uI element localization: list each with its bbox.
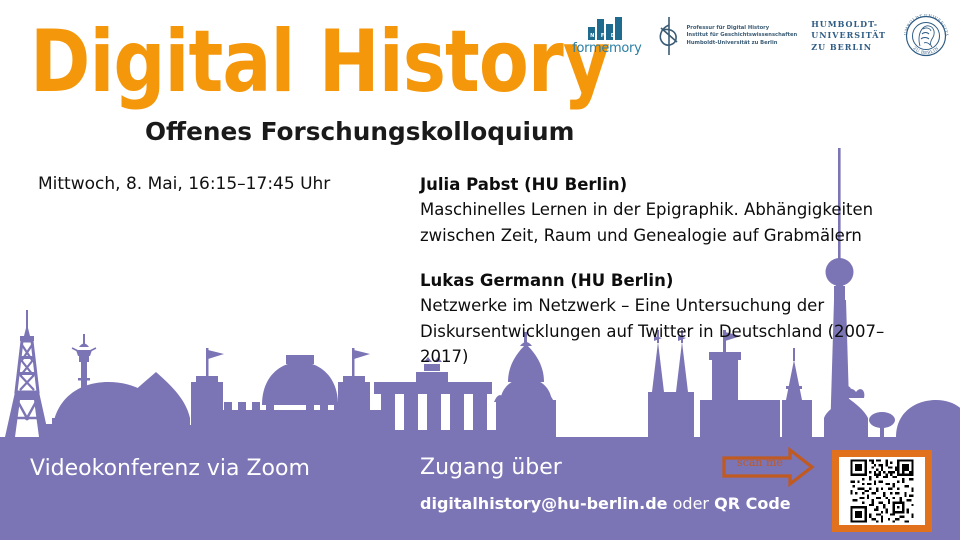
formemory-logo: N F D I formemory	[572, 10, 641, 62]
nfdi-letter-d: D	[611, 33, 615, 39]
page-title: Digital History	[30, 14, 609, 110]
talk-title-line: Maschinelles Lernen in der Epigraphik. A…	[420, 197, 920, 223]
talk-item: Lukas Germann (HU Berlin) Netzwerke im N…	[420, 268, 920, 370]
humboldt-line-1: HUMBOLDT-	[811, 19, 878, 31]
nfdi-bars-icon: N F D I	[587, 16, 627, 40]
professur-line-3: Humboldt-Universität zu Berlin	[687, 40, 798, 48]
nfdi-letter-f: F	[601, 33, 604, 39]
page-subtitle: Offenes Forschungskolloquium	[145, 117, 574, 147]
nfdi-letter-i: I	[622, 33, 624, 39]
qr-code-image[interactable]	[839, 457, 925, 525]
videoconference-label: Videokonferenz via Zoom	[30, 454, 310, 484]
professur-digital-history-logo: Professur für Digital History Institut f…	[656, 10, 798, 62]
qr-code-label: QR Code	[714, 494, 791, 513]
professur-text-block: Professur für Digital History Institut f…	[687, 25, 798, 48]
talk-title-line: Netzwerke im Netzwerk – Eine Untersuchun…	[420, 293, 920, 319]
qr-code-frame[interactable]	[832, 450, 932, 532]
contact-separator: oder	[673, 494, 709, 513]
professur-emblem-icon	[656, 16, 682, 56]
scan-me-label: scan me	[730, 456, 790, 470]
talk-title-line: 2017)	[420, 344, 920, 370]
talk-speaker: Lukas Germann (HU Berlin)	[420, 268, 920, 293]
event-datetime: Mittwoch, 8. Mai, 16:15–17:45 Uhr	[38, 172, 330, 196]
title-block: Digital History Offenes Forschungskolloq…	[30, 14, 630, 144]
humboldt-wordmark: HUMBOLDT- UNIVERSITÄT ZU BERLIN	[811, 10, 886, 62]
talk-item: Julia Pabst (HU Berlin) Maschinelles Ler…	[420, 172, 920, 248]
humboldt-seal-icon: HUMBOLDT-UNIVERSITÄT ZU BERLIN	[900, 10, 952, 62]
humboldt-line-3: ZU BERLIN	[811, 42, 872, 54]
logo-bar: N F D I formemory Professur für Digital …	[572, 8, 952, 64]
talk-speaker: Julia Pabst (HU Berlin)	[420, 172, 920, 197]
professur-line-1: Professur für Digital History	[687, 25, 798, 33]
footer-bar: Videokonferenz via Zoom Zugang über digi…	[0, 437, 960, 540]
poster-canvas: Digital History Offenes Forschungskolloq…	[0, 0, 960, 540]
humboldt-line-2: UNIVERSITÄT	[811, 30, 886, 42]
contact-line: digitalhistory@hu-berlin.de oder QR Code	[420, 492, 791, 516]
talks-list: Julia Pabst (HU Berlin) Maschinelles Ler…	[420, 172, 920, 370]
scan-me-arrow: scan me	[720, 447, 816, 487]
nfdi-letter-n: N	[590, 33, 594, 39]
professur-line-2: Institut für Geschichtswissenschaften	[687, 32, 798, 40]
contact-email[interactable]: digitalhistory@hu-berlin.de	[420, 494, 668, 513]
formemory-wordmark: formemory	[572, 41, 641, 56]
access-label: Zugang über	[420, 453, 562, 483]
talk-title-line: zwischen Zeit, Raum und Genealogie auf G…	[420, 223, 920, 249]
talk-title-line: Diskursentwicklungen auf Twitter in Deut…	[420, 319, 920, 345]
